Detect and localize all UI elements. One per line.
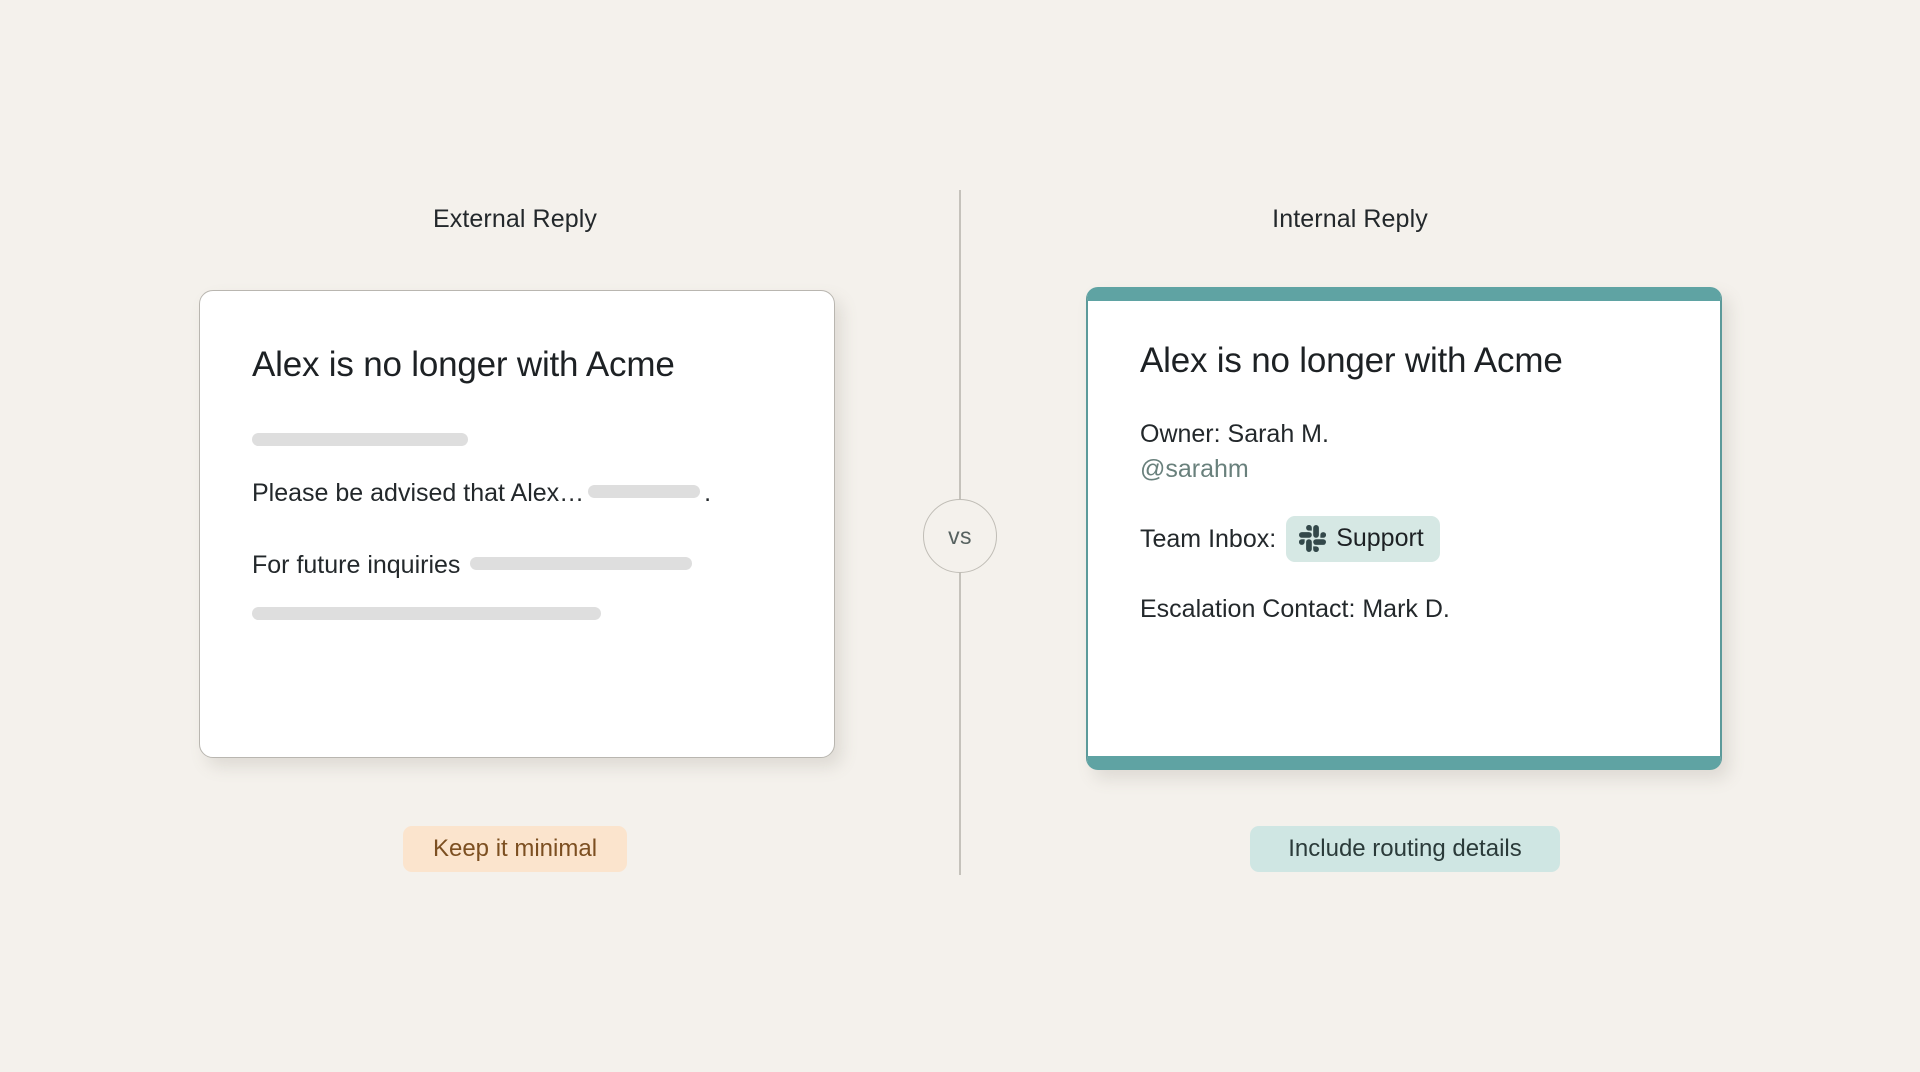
placeholder-bar (252, 433, 468, 446)
team-inbox-label: Team Inbox: (1140, 525, 1276, 554)
escalation-contact-line: Escalation Contact: Mark D. (1140, 592, 1668, 627)
external-body-suffix-1: . (704, 479, 711, 507)
placeholder-bar (252, 607, 601, 620)
internal-reply-card: Alex is no longer with Acme Owner: Sarah… (1086, 287, 1722, 770)
internal-card-title: Alex is no longer with Acme (1140, 341, 1668, 381)
external-body-line-2: For future inquiries (252, 549, 782, 583)
placeholder-bar-inline (470, 557, 692, 570)
comparison-diagram: External Reply Alex is no longer with Ac… (0, 0, 1920, 1072)
spacer (252, 511, 782, 549)
placeholder-bar-inline (588, 485, 700, 498)
external-reply-tag: Keep it minimal (403, 826, 627, 872)
versus-badge: vs (923, 499, 997, 573)
internal-reply-heading: Internal Reply (1040, 205, 1660, 234)
external-card-title: Alex is no longer with Acme (252, 345, 782, 385)
external-body-text-1: Please be advised that Alex… (252, 479, 584, 507)
external-reply-heading: External Reply (205, 205, 825, 234)
external-card-body: Please be advised that Alex…. For future… (252, 433, 782, 620)
external-reply-card: Alex is no longer with Acme Please be ad… (199, 290, 835, 758)
team-inbox-chip-label: Support (1336, 524, 1424, 553)
owner-handle: @sarahm (1140, 452, 1668, 487)
team-inbox-row: Team Inbox: (1140, 516, 1668, 562)
external-body-text-2: For future inquiries (252, 551, 460, 579)
external-body-line-1: Please be advised that Alex…. (252, 477, 782, 511)
internal-reply-tag: Include routing details (1250, 826, 1560, 872)
slack-icon (1299, 525, 1326, 552)
owner-line: Owner: Sarah M. (1140, 417, 1668, 452)
internal-card-body: Owner: Sarah M. @sarahm Team Inbox: (1140, 417, 1668, 627)
team-inbox-chip[interactable]: Support (1286, 516, 1440, 562)
